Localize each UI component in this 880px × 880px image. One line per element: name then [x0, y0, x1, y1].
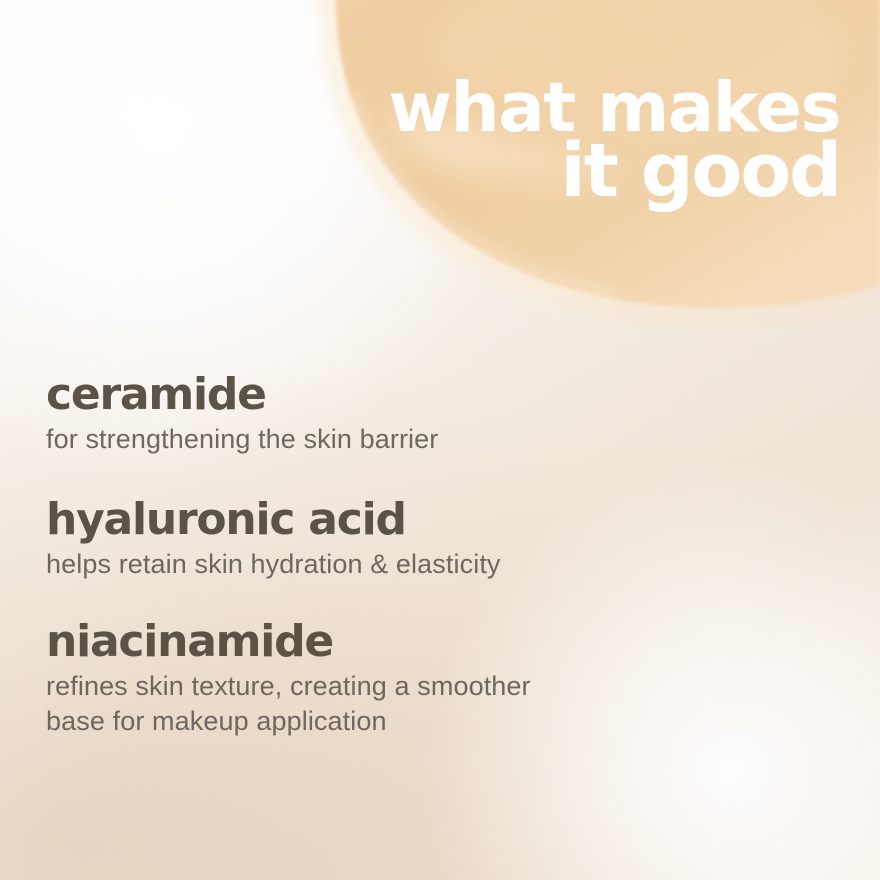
ingredient-description: for strengthening the skin barrier	[46, 422, 746, 458]
ingredient-name: niacinamide	[46, 619, 746, 665]
ingredient-description: refines skin texture, creating a smoothe…	[46, 669, 746, 740]
headline-line-2: it good	[220, 139, 840, 204]
ingredient-name: ceramide	[46, 372, 746, 418]
ingredient-name: hyaluronic acid	[46, 497, 746, 543]
ingredient-description-line: base for makeup application	[46, 704, 746, 740]
ingredient-list: ceramide for strengthening the skin barr…	[46, 372, 746, 740]
ingredient-description: helps retain skin hydration & elasticity	[46, 547, 746, 583]
page-title: what makes it good	[220, 78, 840, 204]
ingredient-item-niacinamide: niacinamide refines skin texture, creati…	[46, 619, 746, 740]
ingredient-item-hyaluronic-acid: hyaluronic acid helps retain skin hydrat…	[46, 497, 746, 582]
ingredient-item-ceramide: ceramide for strengthening the skin barr…	[46, 372, 746, 457]
ingredient-description-line: refines skin texture, creating a smoothe…	[46, 669, 746, 705]
ingredient-description-line: for strengthening the skin barrier	[46, 422, 746, 458]
poster-canvas: what makes it good ceramide for strength…	[0, 0, 880, 880]
ingredient-description-line: helps retain skin hydration & elasticity	[46, 547, 746, 583]
